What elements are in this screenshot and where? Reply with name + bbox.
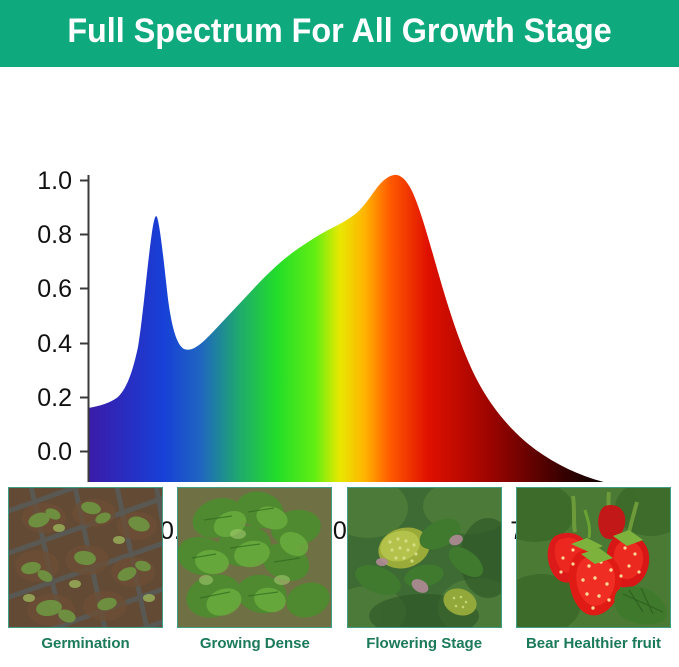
- page-title: Full Spectrum For All Growth Stage: [67, 12, 611, 51]
- gallery-caption: Bear Healthier fruit: [526, 635, 661, 652]
- gallery-item-growing-dense: Growing Dense: [177, 487, 332, 667]
- growth-stage-gallery: Germination: [0, 487, 679, 667]
- gallery-item-flowering-stage: Flowering Stage: [347, 487, 502, 667]
- y-axis-ticks: [80, 181, 88, 452]
- dense-leaves-photo: [177, 487, 332, 628]
- gallery-caption: Flowering Stage: [366, 635, 482, 652]
- spectrum-chart: 1.0 0.8 0.6 0.4 0.2 0.0 380.0 440.0 500.…: [0, 67, 679, 482]
- gallery-caption: Germination: [41, 635, 129, 652]
- gallery-caption: Growing Dense: [200, 635, 310, 652]
- ripe-strawberries-photo: [516, 487, 671, 628]
- y-tick-label-0.8: 0.8: [20, 221, 72, 250]
- header-banner: Full Spectrum For All Growth Stage: [0, 0, 679, 63]
- y-tick-label-0.2: 0.2: [20, 384, 72, 413]
- seedling-tray-photo: [8, 487, 163, 628]
- spectrum-chart-svg: [0, 67, 679, 482]
- unripe-strawberry-photo: [347, 487, 502, 628]
- gallery-item-bear-healthier-fruit: Bear Healthier fruit: [516, 487, 671, 667]
- y-tick-label-0.4: 0.4: [20, 330, 72, 359]
- gallery-item-germination: Germination: [8, 487, 163, 667]
- y-tick-label-0.6: 0.6: [20, 275, 72, 304]
- y-tick-label-1.0: 1.0: [20, 167, 72, 196]
- y-tick-label-0.0: 0.0: [20, 438, 72, 467]
- spectrum-curve-fill: [88, 167, 617, 482]
